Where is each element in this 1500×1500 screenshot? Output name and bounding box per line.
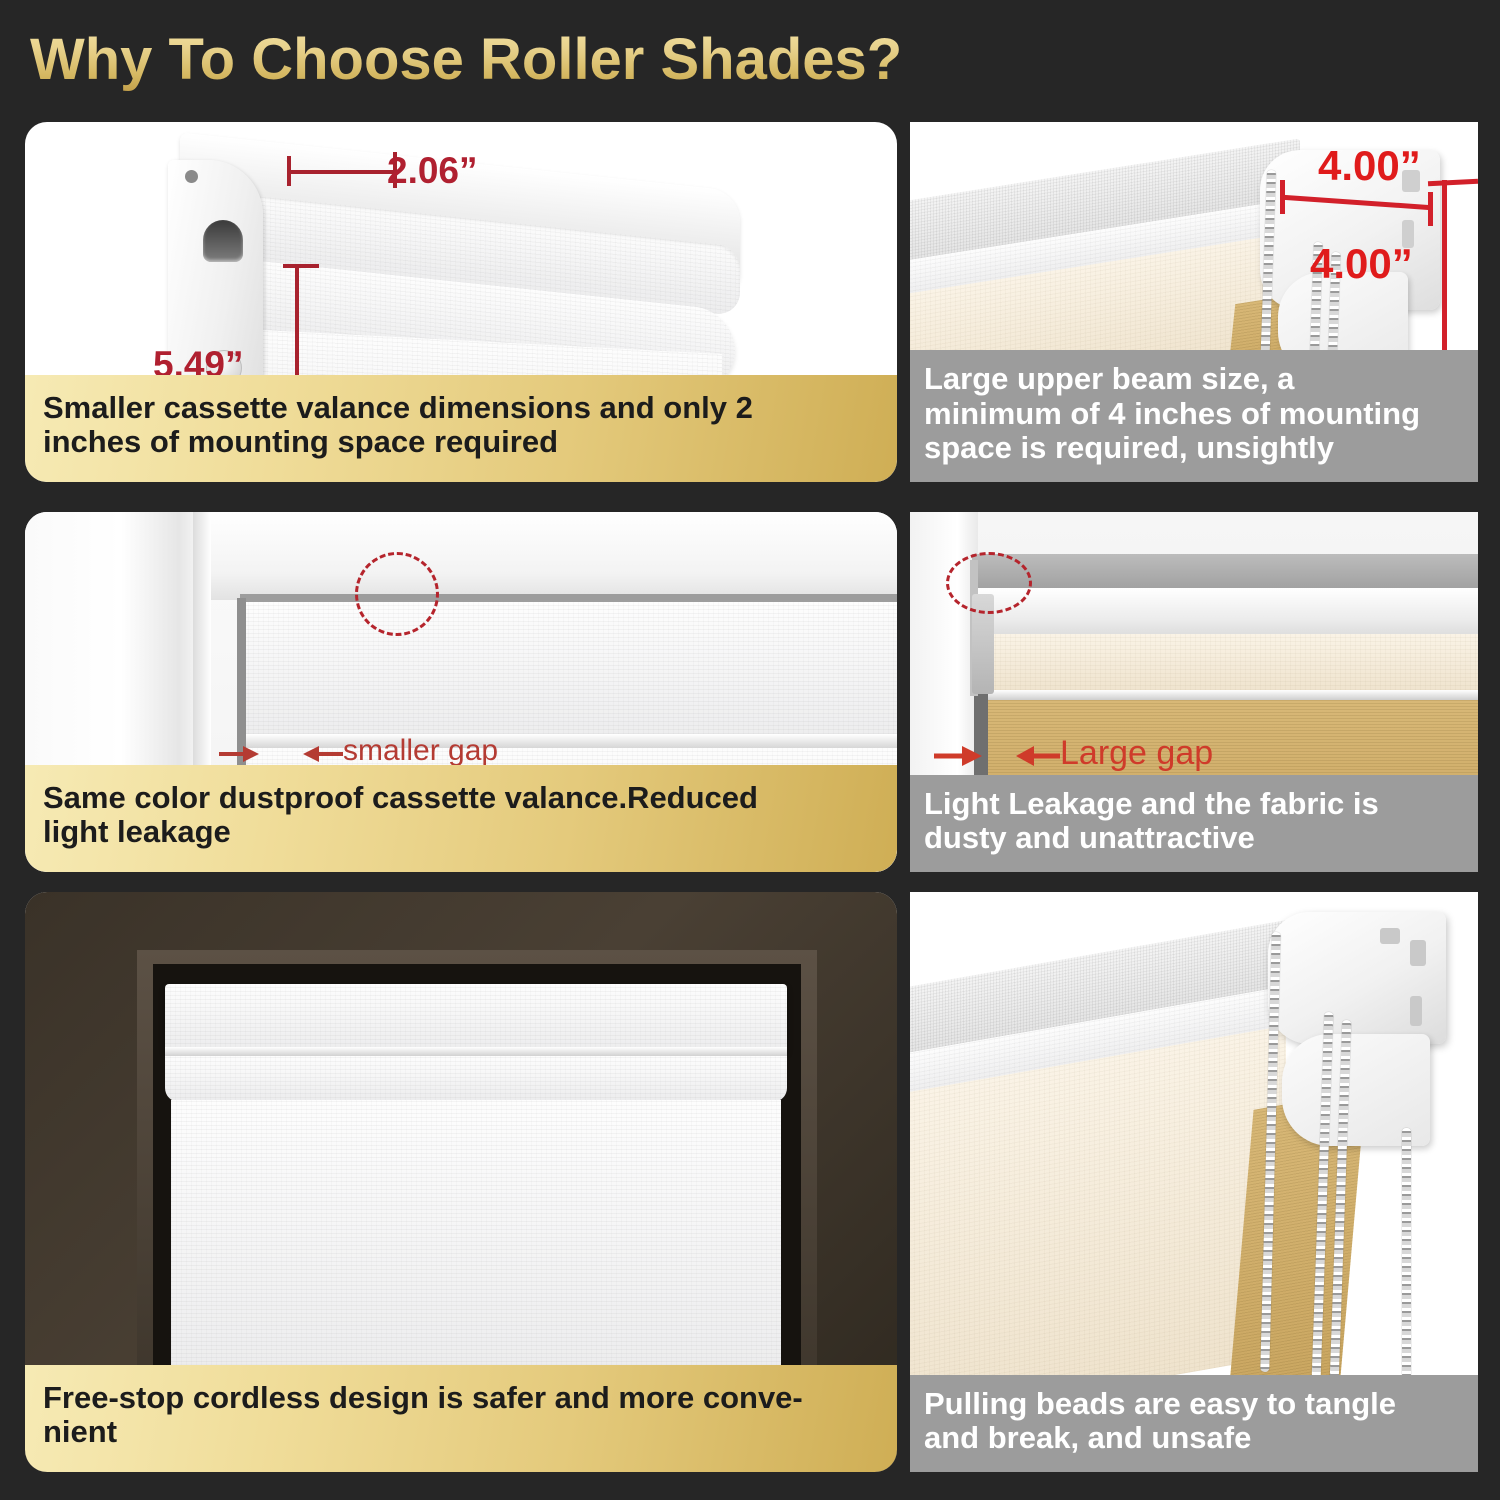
height-dimension-tick-top xyxy=(283,264,319,268)
panel-large-upper-beam: 4.00” 4.00” Large upper beam size, a min… xyxy=(910,122,1478,482)
beam-height-dimension-line xyxy=(1442,180,1447,370)
panel-3-caption: Same color dustproof cassette valance.Re… xyxy=(25,765,897,872)
beam-height-label: 4.00” xyxy=(1310,240,1413,288)
page-title: Why To Choose Roller Shades? xyxy=(30,20,1330,100)
panel-2-caption: Large upper beam size, a minimum of 4 in… xyxy=(910,350,1478,482)
beam-width-label: 4.00” xyxy=(1318,142,1421,190)
panel-5-caption: Free-stop cordless design is safer and m… xyxy=(25,1365,897,1472)
caption-line: Free-stop cordless design is safer and m… xyxy=(43,1381,879,1416)
panel-6-caption: Pulling beads are easy to tangle and bre… xyxy=(910,1375,1478,1472)
panel-1-caption: Smaller cassette valance dimensions and … xyxy=(25,375,897,482)
valance-top-shadow xyxy=(240,594,897,602)
caption-line: Same color dustproof cassette valance.Re… xyxy=(43,781,879,816)
panel-pulling-beads: Pulling beads are easy to tangle and bre… xyxy=(910,892,1478,1472)
gap-highlight-ellipse xyxy=(946,552,1032,614)
large-gap-label: Large gap xyxy=(1060,734,1213,773)
panel-large-gap: Large gap Light Leakage and the fabric i… xyxy=(910,512,1478,872)
roller-tube-front xyxy=(165,1056,787,1102)
panel-smaller-cassette: 2.06” 5.49” Smaller cassette valance dim… xyxy=(25,122,897,482)
bead-chain-4 xyxy=(1402,1128,1411,1378)
upper-beam-gray xyxy=(972,554,1478,592)
bracket-slot xyxy=(203,220,243,262)
caption-line: dusty and unattractive xyxy=(924,821,1464,856)
panel-4-caption: Light Leakage and the fabric is dusty an… xyxy=(910,775,1478,872)
caption-line: Smaller cassette valance dimensions and … xyxy=(43,391,879,426)
caption-line: Light Leakage and the fabric is xyxy=(924,787,1464,822)
front-fabric-cream xyxy=(910,1025,1286,1424)
cassette-valance xyxy=(243,602,897,742)
caption-line: minimum of 4 inches of mounting xyxy=(924,397,1464,432)
caption-line: inches of mounting space required xyxy=(43,425,879,460)
caption-line: Pulling beads are easy to tangle xyxy=(924,1387,1464,1422)
caption-line: light leakage xyxy=(43,815,879,850)
cassette-valance-top xyxy=(165,984,787,1052)
gap-arrow-pair xyxy=(932,736,1062,776)
bracket-slot-a xyxy=(1380,928,1400,944)
main-shade-fabric xyxy=(171,1100,781,1378)
white-head-rail xyxy=(972,588,1478,640)
caption-line: Large upper beam size, a xyxy=(924,362,1464,397)
caption-line: nient xyxy=(43,1415,879,1450)
gap-highlight-circle xyxy=(355,552,439,636)
bracket-screw-upper xyxy=(185,170,198,183)
cream-fabric-band xyxy=(980,634,1478,694)
width-dimension-line xyxy=(287,170,399,174)
panel-smaller-gap: smaller gap Same color dustproof cassett… xyxy=(25,512,897,872)
smaller-gap-label: smaller gap xyxy=(343,734,498,768)
width-dimension-label: 2.06” xyxy=(387,150,478,192)
width-dimension-tick-left xyxy=(287,156,291,186)
bracket-slot-c xyxy=(1410,996,1422,1026)
beam-width-tick-right xyxy=(1428,192,1433,226)
caption-line: space is required, unsightly xyxy=(924,431,1464,466)
bracket-slot-b xyxy=(1410,940,1426,966)
window-frame-head xyxy=(211,512,897,600)
beam-width-tick-left xyxy=(1280,180,1285,214)
caption-line: and break, and unsafe xyxy=(924,1421,1464,1456)
rail-under-edge xyxy=(980,690,1478,700)
panel-cordless-design: Free-stop cordless design is safer and m… xyxy=(25,892,897,1472)
